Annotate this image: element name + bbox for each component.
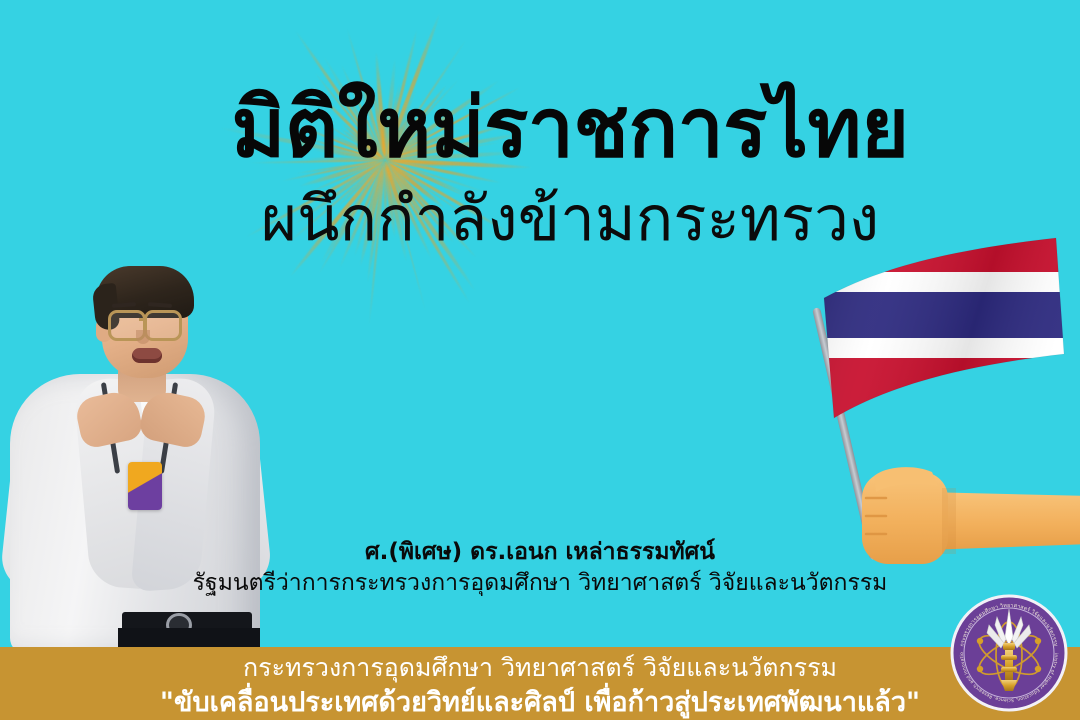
sunburst-ray: [385, 151, 520, 162]
ministry-name: กระทรวงการอุดมศึกษา วิทยาศาสตร์ วิจัยและ…: [0, 652, 1080, 685]
sunburst-ray: [281, 159, 385, 182]
sunburst-ray: [340, 122, 386, 161]
sunburst-ray: [317, 159, 386, 276]
sunburst-ray: [353, 160, 386, 257]
sunburst-ray: [385, 125, 443, 160]
sunburst-ray: [298, 158, 386, 188]
sunburst-ray: [384, 86, 419, 160]
sunburst-ray: [385, 142, 503, 161]
sunburst-ray: [284, 159, 386, 247]
sunburst-ray: [384, 78, 501, 161]
eyeglasses-bridge-icon: [139, 318, 147, 321]
speaker-mouth: [132, 348, 162, 363]
hand-icon: [852, 458, 1080, 598]
sunburst-ray: [294, 159, 385, 175]
sunburst-ray: [339, 62, 386, 161]
sunburst-ray: [359, 160, 387, 268]
sunburst-ray: [385, 131, 526, 162]
speaker-portrait: [0, 256, 290, 648]
sunburst-ray: [294, 29, 387, 161]
sunburst-ray: [384, 159, 511, 235]
sunburst-ray: [305, 158, 385, 162]
sunburst-ray: [384, 83, 448, 161]
sunburst-ray: [374, 51, 387, 160]
sunburst-ray: [383, 105, 417, 161]
sunburst-ray: [368, 160, 387, 328]
sunburst-ray: [384, 159, 471, 304]
sunburst-ray: [384, 159, 434, 260]
sunburst-ray: [306, 159, 385, 194]
sunburst-ray: [385, 86, 522, 161]
sunburst-ray: [346, 27, 386, 160]
sunburst-ray: [336, 159, 385, 192]
sunburst-ray: [382, 103, 387, 160]
sunburst-ray: [312, 148, 385, 161]
sunburst-ray: [248, 159, 385, 164]
sunburst-ray: [297, 124, 385, 162]
ministry-seal-icon: กระทรวงการอุดมศึกษา วิทยาศาสตร์ วิจัยและ…: [949, 593, 1069, 713]
sunburst-ray: [339, 127, 386, 161]
sunburst-ray: [385, 78, 461, 160]
page-title: มิติใหม่ราชการไทย: [0, 88, 1080, 170]
sunburst-ray: [245, 159, 386, 238]
sunburst-ray: [385, 123, 511, 162]
sunburst-ray: [384, 28, 418, 160]
speaker-nose: [136, 330, 150, 344]
sunburst-ray: [288, 159, 387, 279]
sunburst-ray: [219, 126, 386, 161]
sunburst-ray: [383, 159, 477, 293]
sunburst-ray: [383, 160, 397, 238]
sunburst-ray: [327, 132, 386, 161]
sunburst-ray: [383, 160, 387, 230]
sunburst-ray: [314, 71, 386, 160]
sunburst-ray: [385, 159, 471, 200]
sunburst-ray: [383, 160, 409, 264]
sunburst-ray: [384, 158, 468, 196]
thai-flag-in-hand-icon: [790, 236, 1080, 596]
sunburst-ray: [383, 58, 397, 161]
sunburst-ray: [385, 158, 502, 185]
sunburst-ray: [385, 159, 489, 194]
sunburst-ray: [384, 159, 478, 260]
sunburst-ray: [384, 160, 426, 315]
sunburst-ray: [305, 136, 386, 161]
sunburst-ray: [319, 159, 387, 265]
sunburst-ray: [385, 158, 533, 170]
sunburst-ray: [319, 120, 386, 161]
sunburst-ray: [385, 158, 461, 168]
sunburst-ray: [366, 160, 386, 283]
sunburst-ray: [384, 119, 430, 161]
sunburst-ray: [383, 159, 411, 233]
sunburst-ray: [383, 82, 402, 161]
speaker-badge: [128, 462, 162, 510]
ministry-slogan: "ขับเคลื่อนประเทศด้วยวิทย์และศิลป์ เพื่อ…: [0, 685, 1080, 720]
sunburst-ray: [384, 127, 461, 162]
footer-banner: กระทรวงการอุดมศึกษา วิทยาศาสตร์ วิจัยและ…: [0, 647, 1080, 720]
sunburst-ray: [322, 54, 386, 160]
sunburst-ray: [372, 90, 387, 160]
sunburst-ray: [313, 88, 386, 160]
sunburst-ray: [334, 159, 387, 211]
sunburst-ray: [357, 79, 387, 161]
sunburst-ray: [385, 159, 491, 233]
speaker-trousers: [118, 628, 260, 648]
sunburst-ray: [383, 11, 442, 161]
sunburst-ray: [384, 38, 467, 160]
poster-canvas: มิติใหม่ราชการไทย ผนึกกำลังข้ามกระทรวง ศ…: [0, 0, 1080, 720]
sunburst-ray: [384, 159, 455, 243]
headline-block: มิติใหม่ราชการไทย ผนึกกำลังข้ามกระทรวง: [0, 88, 1080, 250]
sunburst-ray: [338, 159, 387, 269]
sunburst-ray: [384, 158, 447, 210]
thai-flag-icon: [816, 236, 1066, 486]
sunburst-ray: [294, 159, 386, 225]
